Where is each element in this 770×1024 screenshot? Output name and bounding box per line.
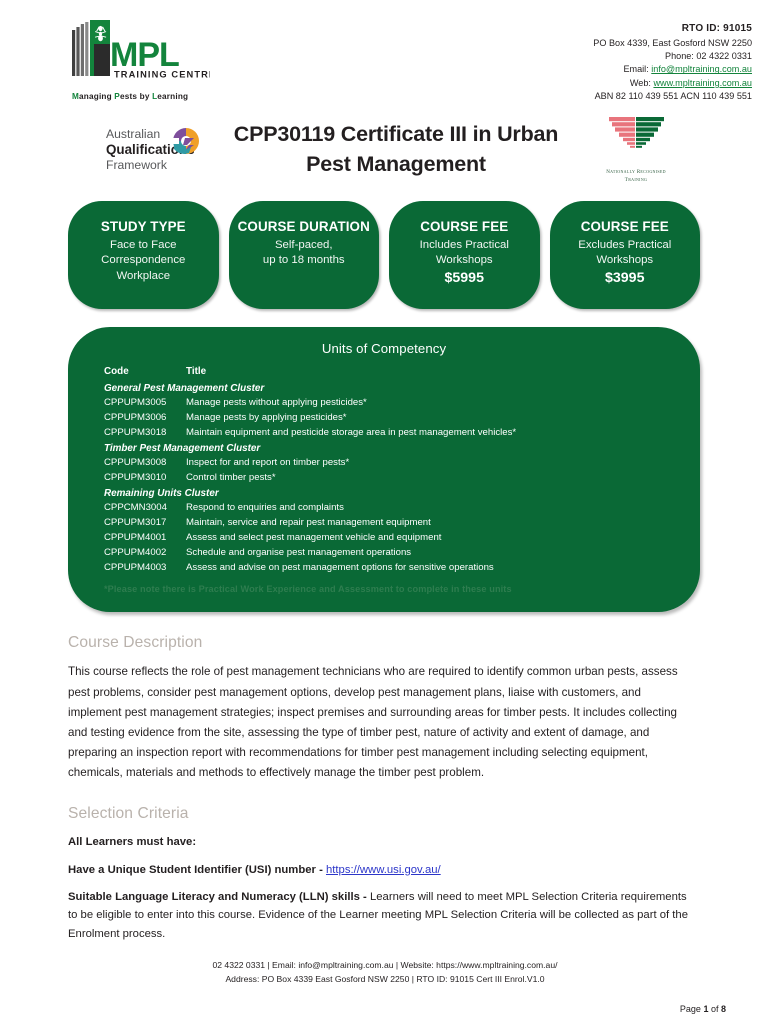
aqf-logo-graphic: Australian Qualifications Framework xyxy=(100,116,204,178)
units-col-header-code: Code xyxy=(90,364,186,380)
card-study-type: STUDY TYPE Face to Face Correspondence W… xyxy=(68,201,219,309)
web-label: Web: xyxy=(630,78,654,88)
card-study-type-sub: Face to Face Correspondence Workplace xyxy=(76,238,211,283)
document-page: MPL TRAINING CENTRE Managing Pests by Le… xyxy=(0,0,770,1024)
rto-contact-block: RTO ID: 91015 PO Box 4339, East Gosford … xyxy=(593,16,754,103)
unit-title: Maintain, service and repair pest manage… xyxy=(186,516,678,531)
selection-criteria-section: Selection Criteria All Learners must hav… xyxy=(0,805,770,942)
units-col-header-title: Title xyxy=(186,364,678,380)
lln-label: Suitable Language Literacy and Numeracy … xyxy=(68,891,370,903)
web-line: Web: www.mpltraining.com.au xyxy=(593,77,752,90)
unit-title: Schedule and organise pest management op… xyxy=(186,546,678,561)
svg-text:Framework: Framework xyxy=(106,158,168,172)
unit-code: CPPUPM3008 xyxy=(90,456,186,471)
email-label: Email: xyxy=(623,64,651,74)
card-course-fee-excludes-title: COURSE FEE xyxy=(558,219,693,236)
unit-title: Manage pests without applying pesticides… xyxy=(186,396,678,411)
card-course-fee-includes-title: COURSE FEE xyxy=(397,219,532,236)
unit-code: CPPCMN3004 xyxy=(90,501,186,516)
page-number: Page 1 of 8 xyxy=(24,1004,746,1014)
footer-contact-line-2: Address: PO Box 4339 East Gosford NSW 22… xyxy=(24,973,746,986)
card-course-fee-includes-price: $5995 xyxy=(397,270,532,286)
document-footer: 02 4322 0331 | Email: info@mpltraining.c… xyxy=(0,959,770,1014)
nrt-caption-line2: Training xyxy=(588,177,684,185)
units-table: Code Title General Pest Management Clust… xyxy=(90,364,678,575)
unit-title: Maintain equipment and pesticide storage… xyxy=(186,426,678,441)
unit-code: CPPUPM3018 xyxy=(90,426,186,441)
units-cluster-row: Timber Pest Management Cluster xyxy=(90,441,678,456)
card-course-duration-sub: Self-paced, up to 18 months xyxy=(237,238,372,268)
course-description-heading: Course Description xyxy=(68,634,694,652)
course-description-body: This course reflects the role of pest ma… xyxy=(68,662,694,783)
card-course-fee-includes: COURSE FEE Includes Practical Workshops … xyxy=(389,201,540,309)
aqf-logo: Australian Qualifications Framework xyxy=(100,116,204,183)
mpl-logo-tagline: Managing Pests by Learning xyxy=(72,92,210,101)
svg-text:TRAINING CENTRE: TRAINING CENTRE xyxy=(114,70,210,80)
nrt-caption-line1: Nationally Recognised xyxy=(588,169,684,177)
rto-id: RTO ID: 91015 xyxy=(593,22,752,37)
units-cluster-label: General Pest Management Cluster xyxy=(90,381,678,396)
card-course-fee-excludes-price: $3995 xyxy=(558,270,693,286)
units-cluster-label: Remaining Units Cluster xyxy=(90,486,678,501)
page-prefix: Page xyxy=(680,1004,704,1014)
email-link[interactable]: info@mpltraining.com.au xyxy=(651,64,752,74)
mpl-training-centre-logo: MPL TRAINING CENTRE Managing Pests by Le… xyxy=(70,16,210,101)
card-course-duration: COURSE DURATION Self-paced, up to 18 mon… xyxy=(229,201,380,309)
selection-criteria-lln: Suitable Language Literacy and Numeracy … xyxy=(68,888,694,943)
nrt-logo-graphic xyxy=(589,114,683,162)
card-course-fee-includes-sub: Includes Practical Workshops xyxy=(397,238,532,268)
svg-text:Australian: Australian xyxy=(106,127,160,141)
nationally-recognised-training-logo: Nationally Recognised Training xyxy=(588,114,684,184)
email-line: Email: info@mpltraining.com.au xyxy=(593,63,752,76)
units-table-header-row: Code Title xyxy=(90,364,678,380)
unit-code: CPPUPM3006 xyxy=(90,411,186,426)
units-of-competency-panel: Units of Competency Code Title General P… xyxy=(68,327,700,612)
unit-code: CPPUPM4003 xyxy=(90,561,186,576)
page-total: 8 xyxy=(721,1004,726,1014)
unit-title: Respond to enquiries and complaints xyxy=(186,501,678,516)
page-of: of xyxy=(708,1004,721,1014)
course-title-row: Australian Qualifications Framework CPP3… xyxy=(0,103,770,189)
unit-code: CPPUPM4001 xyxy=(90,531,186,546)
unit-title: Manage pests by applying pesticides* xyxy=(186,411,678,426)
table-row: CPPUPM4001Assess and select pest managem… xyxy=(90,531,678,546)
phone-number: Phone: 02 4322 0331 xyxy=(593,50,752,63)
table-row: CPPUPM3010Control timber pests* xyxy=(90,471,678,486)
units-practical-note: *Please note there is Practical Work Exp… xyxy=(90,584,678,594)
units-cluster-label: Timber Pest Management Cluster xyxy=(90,441,678,456)
abn-acn: ABN 82 110 439 551 ACN 110 439 551 xyxy=(593,90,752,103)
selection-criteria-intro: All Learners must have: xyxy=(68,833,694,851)
unit-title: Assess and select pest management vehicl… xyxy=(186,531,678,546)
page-title: CPP30119 Certificate III in Urban Pest M… xyxy=(204,119,588,180)
document-header: MPL TRAINING CENTRE Managing Pests by Le… xyxy=(0,0,770,103)
units-cluster-row: General Pest Management Cluster xyxy=(90,381,678,396)
table-row: CPPUPM3018Maintain equipment and pestici… xyxy=(90,426,678,441)
course-info-cards: STUDY TYPE Face to Face Correspondence W… xyxy=(0,189,770,309)
unit-code: CPPUPM3005 xyxy=(90,396,186,411)
svg-text:MPL: MPL xyxy=(110,36,179,74)
card-course-fee-excludes-sub: Excludes Practical Workshops xyxy=(558,238,693,268)
selection-criteria-heading: Selection Criteria xyxy=(68,805,694,823)
units-table-body: Code Title General Pest Management Clust… xyxy=(90,364,678,575)
website-link[interactable]: www.mpltraining.com.au xyxy=(653,78,752,88)
footer-contact-line-1: 02 4322 0331 | Email: info@mpltraining.c… xyxy=(24,959,746,972)
selection-criteria-intro-text: All Learners must have: xyxy=(68,836,196,848)
unit-code: CPPUPM3010 xyxy=(90,471,186,486)
course-description-section: Course Description This course reflects … xyxy=(0,634,770,783)
table-row: CPPCMN3004Respond to enquiries and compl… xyxy=(90,501,678,516)
selection-criteria-usi: Have a Unique Student Identifier (USI) n… xyxy=(68,861,694,879)
usi-link[interactable]: https://www.usi.gov.au/ xyxy=(326,864,441,876)
table-row: CPPUPM3006Manage pests by applying pesti… xyxy=(90,411,678,426)
units-cluster-row: Remaining Units Cluster xyxy=(90,486,678,501)
unit-title: Control timber pests* xyxy=(186,471,678,486)
unit-code: CPPUPM3017 xyxy=(90,516,186,531)
table-row: CPPUPM4002Schedule and organise pest man… xyxy=(90,546,678,561)
card-course-fee-excludes: COURSE FEE Excludes Practical Workshops … xyxy=(550,201,701,309)
card-course-duration-title: COURSE DURATION xyxy=(237,219,372,236)
table-row: CPPUPM3008Inspect for and report on timb… xyxy=(90,456,678,471)
table-row: CPPUPM3005Manage pests without applying … xyxy=(90,396,678,411)
table-row: CPPUPM3017Maintain, service and repair p… xyxy=(90,516,678,531)
usi-label: Have a Unique Student Identifier (USI) n… xyxy=(68,864,326,876)
unit-title: Assess and advise on pest management opt… xyxy=(186,561,678,576)
mpl-logo-graphic: MPL TRAINING CENTRE xyxy=(70,16,210,86)
table-row: CPPUPM4003Assess and advise on pest mana… xyxy=(90,561,678,576)
postal-address: PO Box 4339, East Gosford NSW 2250 xyxy=(593,37,752,50)
unit-title: Inspect for and report on timber pests* xyxy=(186,456,678,471)
card-study-type-title: STUDY TYPE xyxy=(76,219,211,236)
units-panel-heading: Units of Competency xyxy=(90,341,678,356)
unit-code: CPPUPM4002 xyxy=(90,546,186,561)
